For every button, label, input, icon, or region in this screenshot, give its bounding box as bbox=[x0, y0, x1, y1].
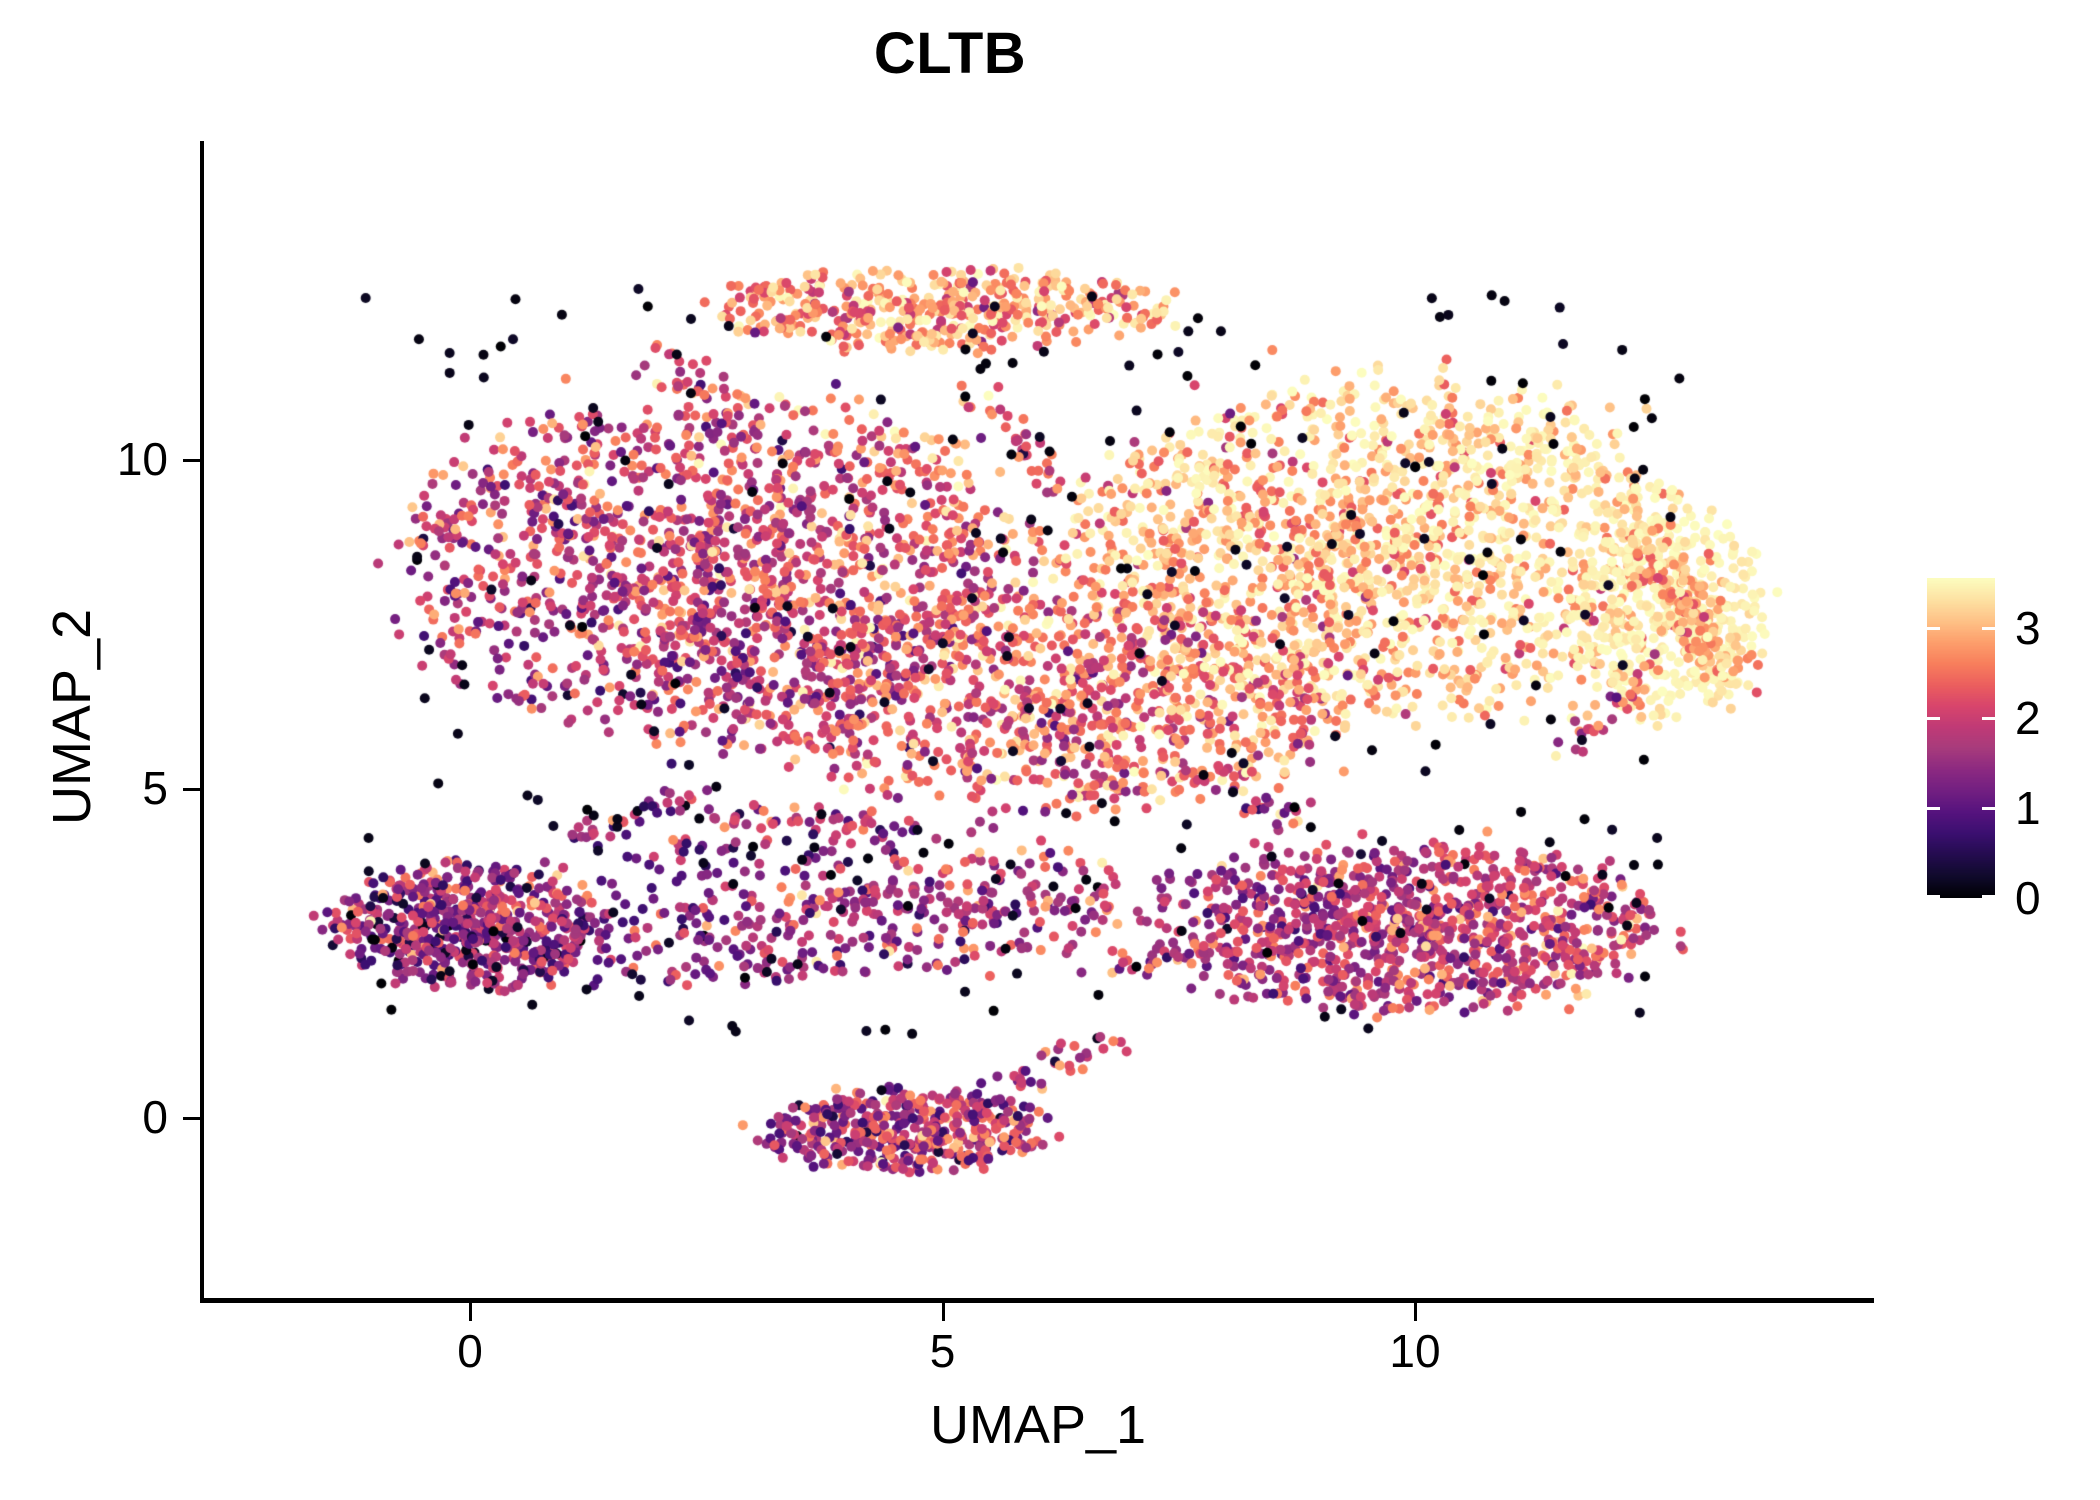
plot-panel bbox=[204, 141, 1872, 1300]
x-axis-tick-mark bbox=[469, 1303, 472, 1321]
colorbar-tick-mark bbox=[1982, 895, 1995, 898]
page-title: CLTB bbox=[0, 22, 1900, 86]
y-axis-tick-mark bbox=[183, 1117, 200, 1120]
colorbar-tick-mark bbox=[1927, 807, 1940, 810]
x-axis-tick-label: 0 bbox=[457, 1328, 483, 1374]
scatter-points-canvas bbox=[204, 141, 1872, 1300]
colorbar-tick-label: 3 bbox=[2015, 605, 2041, 651]
x-axis-line bbox=[200, 1298, 1874, 1303]
x-axis-tick-label: 5 bbox=[930, 1328, 956, 1374]
y-axis-line bbox=[200, 141, 204, 1302]
colorbar-tick-mark bbox=[1927, 895, 1940, 898]
y-axis-tick-label: 5 bbox=[142, 765, 168, 811]
colorbar-tick-label: 0 bbox=[2015, 875, 2041, 921]
x-axis-title: UMAP_1 bbox=[204, 1398, 1872, 1452]
x-axis-tick-label: 10 bbox=[1389, 1328, 1440, 1374]
y-axis-title: UMAP_2 bbox=[45, 367, 99, 1067]
y-axis-tick-mark bbox=[183, 459, 200, 462]
colorbar-tick-mark bbox=[1927, 717, 1940, 720]
y-axis-tick-label: 0 bbox=[142, 1094, 168, 1140]
y-axis-tick-mark bbox=[183, 788, 200, 791]
colorbar-tick-mark bbox=[1982, 807, 1995, 810]
x-axis-tick-mark bbox=[1414, 1303, 1417, 1321]
y-axis-tick-label: 10 bbox=[117, 436, 168, 482]
colorbar-gradient bbox=[1927, 578, 1995, 898]
colorbar-tick-label: 2 bbox=[2015, 695, 2041, 741]
colorbar-tick-mark bbox=[1927, 627, 1940, 630]
colorbar-tick-mark bbox=[1982, 627, 1995, 630]
umap-feature-plot: CLTB 05100510 UMAP_1 UMAP_2 3210 bbox=[0, 0, 2100, 1500]
colorbar-tick-label: 1 bbox=[2015, 785, 2041, 831]
colorbar-tick-mark bbox=[1982, 717, 1995, 720]
x-axis-tick-mark bbox=[942, 1303, 945, 1321]
